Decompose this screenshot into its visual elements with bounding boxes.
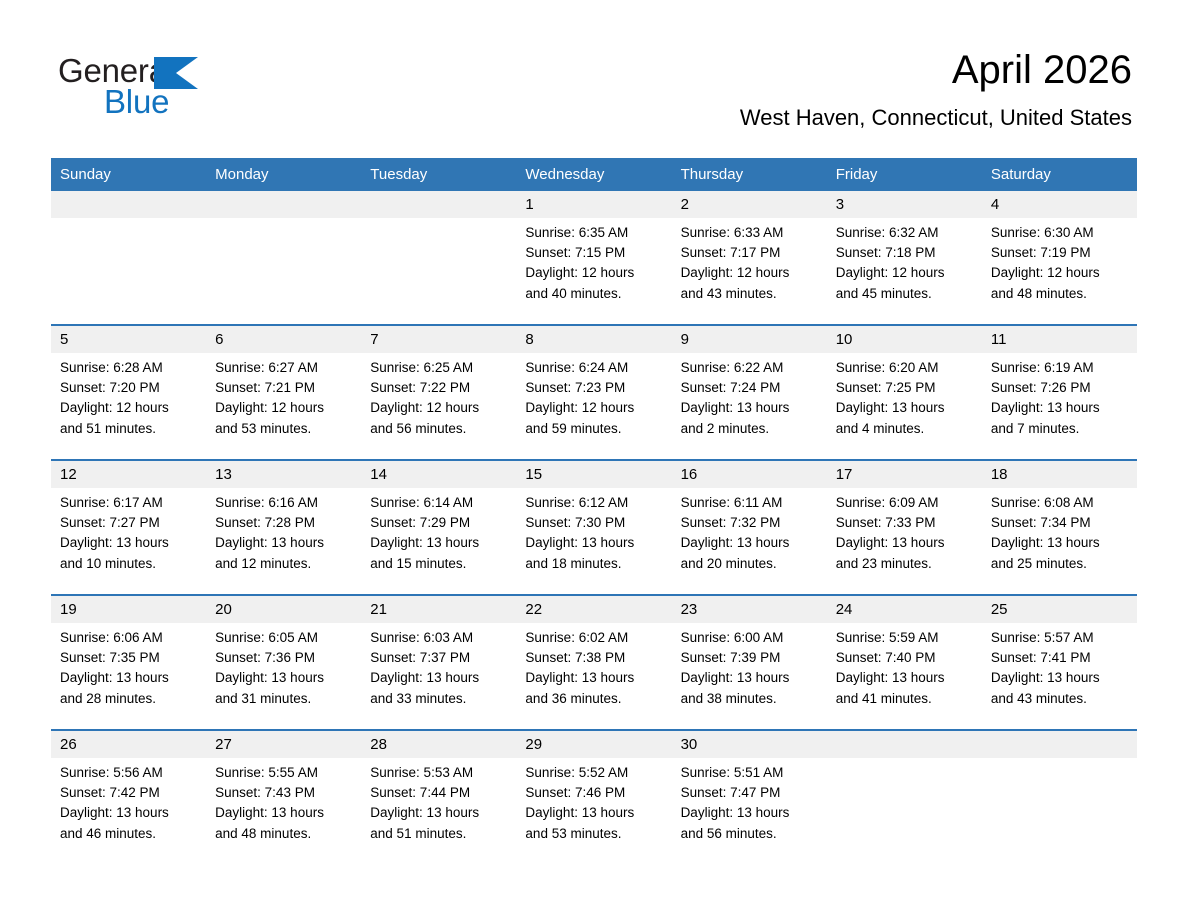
weekday-header-thursday: Thursday (672, 158, 827, 191)
daylight-text: and 56 minutes. (681, 824, 818, 844)
daylight-text: Daylight: 12 hours (215, 398, 352, 418)
day-details: Sunrise: 5:52 AMSunset: 7:46 PMDaylight:… (516, 758, 671, 844)
daylight-text: and 41 minutes. (836, 689, 973, 709)
day-number: 14 (361, 461, 516, 488)
calendar-page: General Blue April 2026 West Haven, Conn… (0, 0, 1188, 918)
sunrise-text: Sunrise: 5:53 AM (370, 763, 507, 783)
calendar-day-cell[interactable]: 14Sunrise: 6:14 AMSunset: 7:29 PMDayligh… (361, 460, 516, 595)
sunset-text: Sunset: 7:30 PM (525, 513, 662, 533)
day-number: 24 (827, 596, 982, 623)
sunset-text: Sunset: 7:40 PM (836, 648, 973, 668)
calendar-day-cell[interactable]: 22Sunrise: 6:02 AMSunset: 7:38 PMDayligh… (516, 595, 671, 730)
day-details: Sunrise: 6:32 AMSunset: 7:18 PMDaylight:… (827, 218, 982, 304)
day-number: 15 (516, 461, 671, 488)
calendar-day-cell[interactable]: 6Sunrise: 6:27 AMSunset: 7:21 PMDaylight… (206, 325, 361, 460)
sunrise-text: Sunrise: 6:33 AM (681, 223, 818, 243)
sunset-text: Sunset: 7:21 PM (215, 378, 352, 398)
day-details: Sunrise: 6:27 AMSunset: 7:21 PMDaylight:… (206, 353, 361, 439)
day-details: Sunrise: 6:17 AMSunset: 7:27 PMDaylight:… (51, 488, 206, 574)
day-details: Sunrise: 5:55 AMSunset: 7:43 PMDaylight:… (206, 758, 361, 844)
sunset-text: Sunset: 7:22 PM (370, 378, 507, 398)
sunset-text: Sunset: 7:35 PM (60, 648, 197, 668)
daylight-text: Daylight: 12 hours (681, 263, 818, 283)
general-blue-logo[interactable]: General Blue (58, 52, 278, 126)
daylight-text: and 2 minutes. (681, 419, 818, 439)
sunset-text: Sunset: 7:44 PM (370, 783, 507, 803)
sunset-text: Sunset: 7:36 PM (215, 648, 352, 668)
day-details: Sunrise: 5:59 AMSunset: 7:40 PMDaylight:… (827, 623, 982, 709)
calendar-day-cell[interactable]: 2Sunrise: 6:33 AMSunset: 7:17 PMDaylight… (672, 191, 827, 325)
daylight-text: and 48 minutes. (215, 824, 352, 844)
calendar-day-cell[interactable]: 30Sunrise: 5:51 AMSunset: 7:47 PMDayligh… (672, 730, 827, 864)
calendar-day-cell[interactable]: 24Sunrise: 5:59 AMSunset: 7:40 PMDayligh… (827, 595, 982, 730)
sunrise-text: Sunrise: 6:02 AM (525, 628, 662, 648)
daylight-text: Daylight: 13 hours (681, 533, 818, 553)
weekday-header-tuesday: Tuesday (361, 158, 516, 191)
calendar-day-cell[interactable]: 9Sunrise: 6:22 AMSunset: 7:24 PMDaylight… (672, 325, 827, 460)
sunset-text: Sunset: 7:18 PM (836, 243, 973, 263)
sunset-text: Sunset: 7:27 PM (60, 513, 197, 533)
sunrise-text: Sunrise: 5:59 AM (836, 628, 973, 648)
day-details: Sunrise: 6:03 AMSunset: 7:37 PMDaylight:… (361, 623, 516, 709)
sunrise-text: Sunrise: 6:11 AM (681, 493, 818, 513)
logo-text-blue: Blue (104, 83, 169, 121)
day-number (982, 731, 1137, 758)
sunrise-text: Sunrise: 6:32 AM (836, 223, 973, 243)
day-number (361, 191, 516, 218)
daylight-text: Daylight: 13 hours (525, 803, 662, 823)
calendar-day-cell[interactable]: 13Sunrise: 6:16 AMSunset: 7:28 PMDayligh… (206, 460, 361, 595)
daylight-text: and 53 minutes. (525, 824, 662, 844)
day-details (206, 218, 361, 223)
day-details: Sunrise: 6:24 AMSunset: 7:23 PMDaylight:… (516, 353, 671, 439)
daylight-text: and 31 minutes. (215, 689, 352, 709)
day-details: Sunrise: 6:20 AMSunset: 7:25 PMDaylight:… (827, 353, 982, 439)
sunset-text: Sunset: 7:23 PM (525, 378, 662, 398)
daylight-text: Daylight: 13 hours (681, 668, 818, 688)
calendar-week-row: 26Sunrise: 5:56 AMSunset: 7:42 PMDayligh… (51, 730, 1137, 864)
day-number: 27 (206, 731, 361, 758)
calendar-day-cell-empty (982, 730, 1137, 864)
page-title: April 2026 (740, 46, 1132, 94)
sunset-text: Sunset: 7:33 PM (836, 513, 973, 533)
sunset-text: Sunset: 7:20 PM (60, 378, 197, 398)
calendar-day-cell[interactable]: 25Sunrise: 5:57 AMSunset: 7:41 PMDayligh… (982, 595, 1137, 730)
sunrise-text: Sunrise: 5:56 AM (60, 763, 197, 783)
calendar-day-cell[interactable]: 12Sunrise: 6:17 AMSunset: 7:27 PMDayligh… (51, 460, 206, 595)
day-number: 29 (516, 731, 671, 758)
daylight-text: and 43 minutes. (681, 284, 818, 304)
day-details: Sunrise: 6:12 AMSunset: 7:30 PMDaylight:… (516, 488, 671, 574)
day-details: Sunrise: 5:53 AMSunset: 7:44 PMDaylight:… (361, 758, 516, 844)
daylight-text: Daylight: 13 hours (991, 533, 1128, 553)
daylight-text: and 45 minutes. (836, 284, 973, 304)
daylight-text: Daylight: 12 hours (525, 263, 662, 283)
day-number: 17 (827, 461, 982, 488)
day-details: Sunrise: 6:02 AMSunset: 7:38 PMDaylight:… (516, 623, 671, 709)
sunset-text: Sunset: 7:15 PM (525, 243, 662, 263)
daylight-text: and 15 minutes. (370, 554, 507, 574)
sunrise-text: Sunrise: 5:51 AM (681, 763, 818, 783)
day-details: Sunrise: 6:00 AMSunset: 7:39 PMDaylight:… (672, 623, 827, 709)
daylight-text: and 12 minutes. (215, 554, 352, 574)
sunset-text: Sunset: 7:25 PM (836, 378, 973, 398)
sunrise-text: Sunrise: 6:20 AM (836, 358, 973, 378)
sunrise-text: Sunrise: 6:14 AM (370, 493, 507, 513)
day-details: Sunrise: 6:30 AMSunset: 7:19 PMDaylight:… (982, 218, 1137, 304)
daylight-text: Daylight: 12 hours (60, 398, 197, 418)
day-details: Sunrise: 6:09 AMSunset: 7:33 PMDaylight:… (827, 488, 982, 574)
calendar-day-cell[interactable]: 29Sunrise: 5:52 AMSunset: 7:46 PMDayligh… (516, 730, 671, 864)
day-details: Sunrise: 6:22 AMSunset: 7:24 PMDaylight:… (672, 353, 827, 439)
day-details (51, 218, 206, 223)
daylight-text: Daylight: 13 hours (215, 668, 352, 688)
daylight-text: Daylight: 13 hours (370, 533, 507, 553)
daylight-text: and 4 minutes. (836, 419, 973, 439)
daylight-text: and 20 minutes. (681, 554, 818, 574)
sunrise-text: Sunrise: 5:55 AM (215, 763, 352, 783)
day-details (361, 218, 516, 223)
sunrise-text: Sunrise: 6:16 AM (215, 493, 352, 513)
calendar-day-cell[interactable]: 17Sunrise: 6:09 AMSunset: 7:33 PMDayligh… (827, 460, 982, 595)
day-number: 6 (206, 326, 361, 353)
daylight-text: and 36 minutes. (525, 689, 662, 709)
day-number: 12 (51, 461, 206, 488)
title-block: April 2026 West Haven, Connecticut, Unit… (740, 46, 1132, 131)
day-number: 22 (516, 596, 671, 623)
sunrise-sunset-calendar-table: Sunday Monday Tuesday Wednesday Thursday… (51, 158, 1137, 864)
daylight-text: Daylight: 13 hours (60, 803, 197, 823)
calendar-day-cell[interactable]: 18Sunrise: 6:08 AMSunset: 7:34 PMDayligh… (982, 460, 1137, 595)
weekday-header-sunday: Sunday (51, 158, 206, 191)
day-number: 21 (361, 596, 516, 623)
sunrise-text: Sunrise: 6:28 AM (60, 358, 197, 378)
day-number (827, 731, 982, 758)
day-details (982, 758, 1137, 763)
sunset-text: Sunset: 7:37 PM (370, 648, 507, 668)
day-details: Sunrise: 6:28 AMSunset: 7:20 PMDaylight:… (51, 353, 206, 439)
calendar-day-cell[interactable]: 8Sunrise: 6:24 AMSunset: 7:23 PMDaylight… (516, 325, 671, 460)
calendar-day-cell[interactable]: 27Sunrise: 5:55 AMSunset: 7:43 PMDayligh… (206, 730, 361, 864)
daylight-text: and 28 minutes. (60, 689, 197, 709)
day-details: Sunrise: 6:35 AMSunset: 7:15 PMDaylight:… (516, 218, 671, 304)
calendar-day-cell[interactable]: 21Sunrise: 6:03 AMSunset: 7:37 PMDayligh… (361, 595, 516, 730)
calendar-day-cell-empty (51, 191, 206, 325)
calendar-day-cell[interactable]: 11Sunrise: 6:19 AMSunset: 7:26 PMDayligh… (982, 325, 1137, 460)
daylight-text: Daylight: 13 hours (215, 803, 352, 823)
calendar-day-cell-empty (361, 191, 516, 325)
sunset-text: Sunset: 7:43 PM (215, 783, 352, 803)
daylight-text: and 51 minutes. (370, 824, 507, 844)
calendar-day-cell[interactable]: 7Sunrise: 6:25 AMSunset: 7:22 PMDaylight… (361, 325, 516, 460)
day-number: 28 (361, 731, 516, 758)
daylight-text: Daylight: 12 hours (370, 398, 507, 418)
day-details: Sunrise: 6:14 AMSunset: 7:29 PMDaylight:… (361, 488, 516, 574)
day-number: 26 (51, 731, 206, 758)
calendar-week-row: 19Sunrise: 6:06 AMSunset: 7:35 PMDayligh… (51, 595, 1137, 730)
sunset-text: Sunset: 7:34 PM (991, 513, 1128, 533)
daylight-text: Daylight: 12 hours (991, 263, 1128, 283)
sunset-text: Sunset: 7:47 PM (681, 783, 818, 803)
weekday-header-friday: Friday (827, 158, 982, 191)
calendar-day-cell[interactable]: 1Sunrise: 6:35 AMSunset: 7:15 PMDaylight… (516, 191, 671, 325)
calendar-day-cell[interactable]: 15Sunrise: 6:12 AMSunset: 7:30 PMDayligh… (516, 460, 671, 595)
calendar-day-cell[interactable]: 20Sunrise: 6:05 AMSunset: 7:36 PMDayligh… (206, 595, 361, 730)
sunrise-text: Sunrise: 6:08 AM (991, 493, 1128, 513)
sunrise-text: Sunrise: 6:05 AM (215, 628, 352, 648)
day-number: 16 (672, 461, 827, 488)
sunrise-text: Sunrise: 6:25 AM (370, 358, 507, 378)
daylight-text: and 46 minutes. (60, 824, 197, 844)
calendar-header-row: Sunday Monday Tuesday Wednesday Thursday… (51, 158, 1137, 191)
calendar-day-cell[interactable]: 26Sunrise: 5:56 AMSunset: 7:42 PMDayligh… (51, 730, 206, 864)
sunset-text: Sunset: 7:19 PM (991, 243, 1128, 263)
sunrise-text: Sunrise: 6:24 AM (525, 358, 662, 378)
calendar-week-row: 1Sunrise: 6:35 AMSunset: 7:15 PMDaylight… (51, 191, 1137, 325)
daylight-text: Daylight: 12 hours (836, 263, 973, 283)
sunset-text: Sunset: 7:46 PM (525, 783, 662, 803)
daylight-text: and 53 minutes. (215, 419, 352, 439)
day-details: Sunrise: 6:33 AMSunset: 7:17 PMDaylight:… (672, 218, 827, 304)
daylight-text: and 59 minutes. (525, 419, 662, 439)
daylight-text: and 40 minutes. (525, 284, 662, 304)
sunset-text: Sunset: 7:24 PM (681, 378, 818, 398)
sunrise-text: Sunrise: 6:22 AM (681, 358, 818, 378)
sunrise-text: Sunrise: 6:09 AM (836, 493, 973, 513)
day-number: 7 (361, 326, 516, 353)
daylight-text: Daylight: 13 hours (836, 398, 973, 418)
calendar-day-cell[interactable]: 23Sunrise: 6:00 AMSunset: 7:39 PMDayligh… (672, 595, 827, 730)
day-details: Sunrise: 5:57 AMSunset: 7:41 PMDaylight:… (982, 623, 1137, 709)
sunrise-text: Sunrise: 6:30 AM (991, 223, 1128, 243)
day-details: Sunrise: 6:05 AMSunset: 7:36 PMDaylight:… (206, 623, 361, 709)
calendar-day-cell[interactable]: 3Sunrise: 6:32 AMSunset: 7:18 PMDaylight… (827, 191, 982, 325)
sunset-text: Sunset: 7:42 PM (60, 783, 197, 803)
daylight-text: Daylight: 13 hours (215, 533, 352, 553)
daylight-text: Daylight: 13 hours (370, 803, 507, 823)
sunrise-text: Sunrise: 6:06 AM (60, 628, 197, 648)
calendar-day-cell[interactable]: 16Sunrise: 6:11 AMSunset: 7:32 PMDayligh… (672, 460, 827, 595)
day-number (51, 191, 206, 218)
day-details: Sunrise: 6:19 AMSunset: 7:26 PMDaylight:… (982, 353, 1137, 439)
day-number: 1 (516, 191, 671, 218)
daylight-text: Daylight: 13 hours (60, 533, 197, 553)
day-number: 9 (672, 326, 827, 353)
day-number: 2 (672, 191, 827, 218)
day-number: 30 (672, 731, 827, 758)
sunrise-text: Sunrise: 5:57 AM (991, 628, 1128, 648)
sunset-text: Sunset: 7:32 PM (681, 513, 818, 533)
day-number: 8 (516, 326, 671, 353)
sunrise-text: Sunrise: 6:19 AM (991, 358, 1128, 378)
calendar-day-cell[interactable]: 5Sunrise: 6:28 AMSunset: 7:20 PMDaylight… (51, 325, 206, 460)
daylight-text: Daylight: 13 hours (681, 803, 818, 823)
day-details: Sunrise: 6:08 AMSunset: 7:34 PMDaylight:… (982, 488, 1137, 574)
day-number: 4 (982, 191, 1137, 218)
day-details: Sunrise: 6:06 AMSunset: 7:35 PMDaylight:… (51, 623, 206, 709)
calendar-day-cell[interactable]: 10Sunrise: 6:20 AMSunset: 7:25 PMDayligh… (827, 325, 982, 460)
daylight-text: Daylight: 13 hours (525, 668, 662, 688)
day-number: 23 (672, 596, 827, 623)
daylight-text: Daylight: 13 hours (991, 398, 1128, 418)
sunset-text: Sunset: 7:39 PM (681, 648, 818, 668)
sunset-text: Sunset: 7:38 PM (525, 648, 662, 668)
sunrise-text: Sunrise: 6:12 AM (525, 493, 662, 513)
daylight-text: Daylight: 13 hours (836, 533, 973, 553)
day-details (827, 758, 982, 763)
daylight-text: and 23 minutes. (836, 554, 973, 574)
calendar-body: 1Sunrise: 6:35 AMSunset: 7:15 PMDaylight… (51, 191, 1137, 864)
day-number: 10 (827, 326, 982, 353)
sunset-text: Sunset: 7:41 PM (991, 648, 1128, 668)
day-details: Sunrise: 5:51 AMSunset: 7:47 PMDaylight:… (672, 758, 827, 844)
sunrise-text: Sunrise: 6:03 AM (370, 628, 507, 648)
day-details: Sunrise: 6:25 AMSunset: 7:22 PMDaylight:… (361, 353, 516, 439)
calendar-day-cell-empty (206, 191, 361, 325)
day-details: Sunrise: 5:56 AMSunset: 7:42 PMDaylight:… (51, 758, 206, 844)
sunrise-text: Sunrise: 6:27 AM (215, 358, 352, 378)
sunrise-text: Sunrise: 6:00 AM (681, 628, 818, 648)
day-details: Sunrise: 6:16 AMSunset: 7:28 PMDaylight:… (206, 488, 361, 574)
calendar-day-cell[interactable]: 28Sunrise: 5:53 AMSunset: 7:44 PMDayligh… (361, 730, 516, 864)
sunset-text: Sunset: 7:28 PM (215, 513, 352, 533)
daylight-text: and 56 minutes. (370, 419, 507, 439)
sunrise-text: Sunrise: 5:52 AM (525, 763, 662, 783)
day-number: 3 (827, 191, 982, 218)
day-number: 25 (982, 596, 1137, 623)
sunrise-text: Sunrise: 6:35 AM (525, 223, 662, 243)
daylight-text: Daylight: 13 hours (525, 533, 662, 553)
calendar-week-row: 12Sunrise: 6:17 AMSunset: 7:27 PMDayligh… (51, 460, 1137, 595)
weekday-header-monday: Monday (206, 158, 361, 191)
calendar-day-cell[interactable]: 4Sunrise: 6:30 AMSunset: 7:19 PMDaylight… (982, 191, 1137, 325)
sunrise-text: Sunrise: 6:17 AM (60, 493, 197, 513)
sunset-text: Sunset: 7:26 PM (991, 378, 1128, 398)
calendar-day-cell-empty (827, 730, 982, 864)
daylight-text: and 43 minutes. (991, 689, 1128, 709)
sunset-text: Sunset: 7:29 PM (370, 513, 507, 533)
daylight-text: and 51 minutes. (60, 419, 197, 439)
day-number: 11 (982, 326, 1137, 353)
daylight-text: and 7 minutes. (991, 419, 1128, 439)
daylight-text: and 33 minutes. (370, 689, 507, 709)
daylight-text: Daylight: 13 hours (60, 668, 197, 688)
location-subtitle: West Haven, Connecticut, United States (740, 104, 1132, 131)
daylight-text: and 18 minutes. (525, 554, 662, 574)
day-number: 20 (206, 596, 361, 623)
day-number: 19 (51, 596, 206, 623)
calendar-week-row: 5Sunrise: 6:28 AMSunset: 7:20 PMDaylight… (51, 325, 1137, 460)
daylight-text: and 25 minutes. (991, 554, 1128, 574)
daylight-text: Daylight: 13 hours (991, 668, 1128, 688)
daylight-text: Daylight: 13 hours (681, 398, 818, 418)
day-number: 13 (206, 461, 361, 488)
calendar-day-cell[interactable]: 19Sunrise: 6:06 AMSunset: 7:35 PMDayligh… (51, 595, 206, 730)
weekday-header-wednesday: Wednesday (516, 158, 671, 191)
daylight-text: Daylight: 12 hours (525, 398, 662, 418)
day-number: 18 (982, 461, 1137, 488)
daylight-text: Daylight: 13 hours (370, 668, 507, 688)
sunset-text: Sunset: 7:17 PM (681, 243, 818, 263)
weekday-header-saturday: Saturday (982, 158, 1137, 191)
day-details: Sunrise: 6:11 AMSunset: 7:32 PMDaylight:… (672, 488, 827, 574)
daylight-text: and 10 minutes. (60, 554, 197, 574)
daylight-text: and 48 minutes. (991, 284, 1128, 304)
daylight-text: Daylight: 13 hours (836, 668, 973, 688)
day-number (206, 191, 361, 218)
daylight-text: and 38 minutes. (681, 689, 818, 709)
day-number: 5 (51, 326, 206, 353)
page-header: General Blue April 2026 West Haven, Conn… (0, 0, 1188, 150)
